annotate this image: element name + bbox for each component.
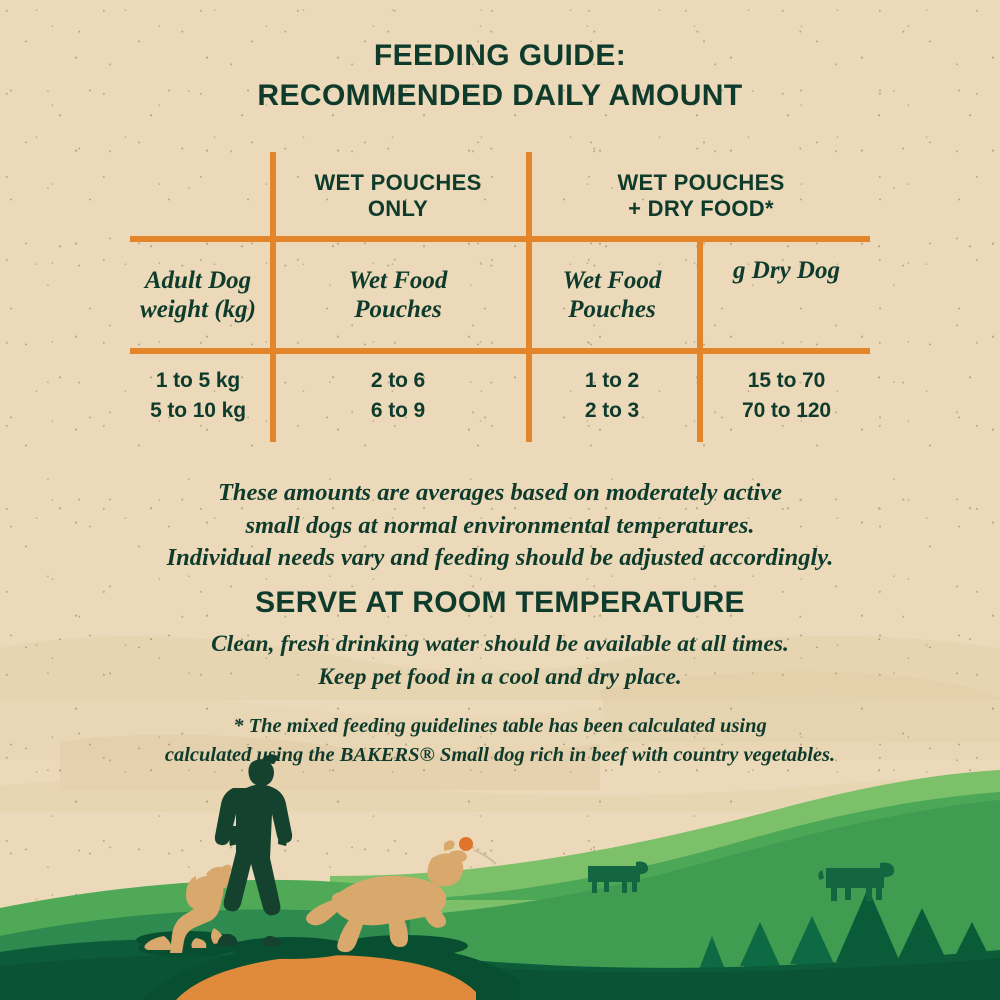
footnote-line-2: calculated using the BAKERS® Small dog r… [0,741,1000,770]
table-rule-horizontal-top [130,236,870,242]
feeding-guide-table: WET POUCHES ONLY WET POUCHES + DRY FOOD*… [130,152,870,442]
column-header-wet-food-pouches-only: Wet Food Pouches [276,248,520,342]
serve-at-room-temperature-heading: SERVE AT ROOM TEMPERATURE [0,586,1000,620]
table-cell-weight: 1 to 5 kg 5 to 10 kg [130,356,266,436]
column-header-1-line-1: Adult Dog [145,266,251,296]
page-title: FEEDING GUIDE: RECOMMENDED DAILY AMOUNT [0,36,1000,116]
table-cell-dry: 15 to 70 70 to 120 [703,356,870,436]
column-header-adult-dog-weight: Adult Dog weight (kg) [130,248,266,342]
note-water-line-2: Keep pet food in a cool and dry place. [0,661,1000,694]
column-header-g-dry-dog: g Dry Dog [703,248,870,342]
table-row-2-wet-only: 6 to 9 [371,396,425,426]
note-averages-line-3: Individual needs vary and feeding should… [0,542,1000,575]
column-header-2-line-1: Wet Food [349,266,448,296]
group-header-wet-pouches-plus-dry: WET POUCHES + DRY FOOD* [532,160,870,232]
note-water: Clean, fresh drinking water should be av… [0,628,1000,694]
note-averages-line-2: small dogs at normal environmental tempe… [0,510,1000,543]
table-cell-wet-mixed: 1 to 2 2 to 3 [532,356,692,436]
note-averages: These amounts are averages based on mode… [0,477,1000,575]
group-header-2-line-2: + DRY FOOD* [628,196,774,222]
column-header-3-line-1: Wet Food [563,266,662,296]
footnote: * The mixed feeding guidelines table has… [0,712,1000,770]
table-rule-horizontal-bottom [130,348,870,354]
table-row-2-dry: 70 to 120 [742,396,831,426]
group-header-2-line-1: WET POUCHES [617,170,784,196]
column-header-1-line-2: weight (kg) [140,295,256,325]
title-line-2: RECOMMENDED DAILY AMOUNT [0,76,1000,116]
group-header-wet-pouches-only: WET POUCHES ONLY [276,160,520,232]
table-row-1-wet-mixed: 1 to 2 [585,366,639,396]
note-averages-line-1: These amounts are averages based on mode… [0,477,1000,510]
group-header-1-line-1: WET POUCHES [314,170,481,196]
column-header-2-line-2: Pouches [354,295,442,325]
column-header-4-line-1: g Dry Dog [733,256,840,286]
column-header-3-line-2: Pouches [568,295,656,325]
table-row-1-weight: 1 to 5 kg [156,366,240,396]
table-row-2-wet-mixed: 2 to 3 [585,396,639,426]
table-row-2-weight: 5 to 10 kg [150,396,246,426]
column-header-wet-food-pouches-mixed: Wet Food Pouches [532,248,692,342]
title-line-1: FEEDING GUIDE: [0,36,1000,76]
table-cell-wet-only: 2 to 6 6 to 9 [276,356,520,436]
table-row-1-wet-only: 2 to 6 [371,366,425,396]
table-row-1-dry: 15 to 70 [748,366,825,396]
note-water-line-1: Clean, fresh drinking water should be av… [0,628,1000,661]
group-header-1-line-2: ONLY [368,196,428,222]
footnote-line-1: * The mixed feeding guidelines table has… [0,712,1000,741]
